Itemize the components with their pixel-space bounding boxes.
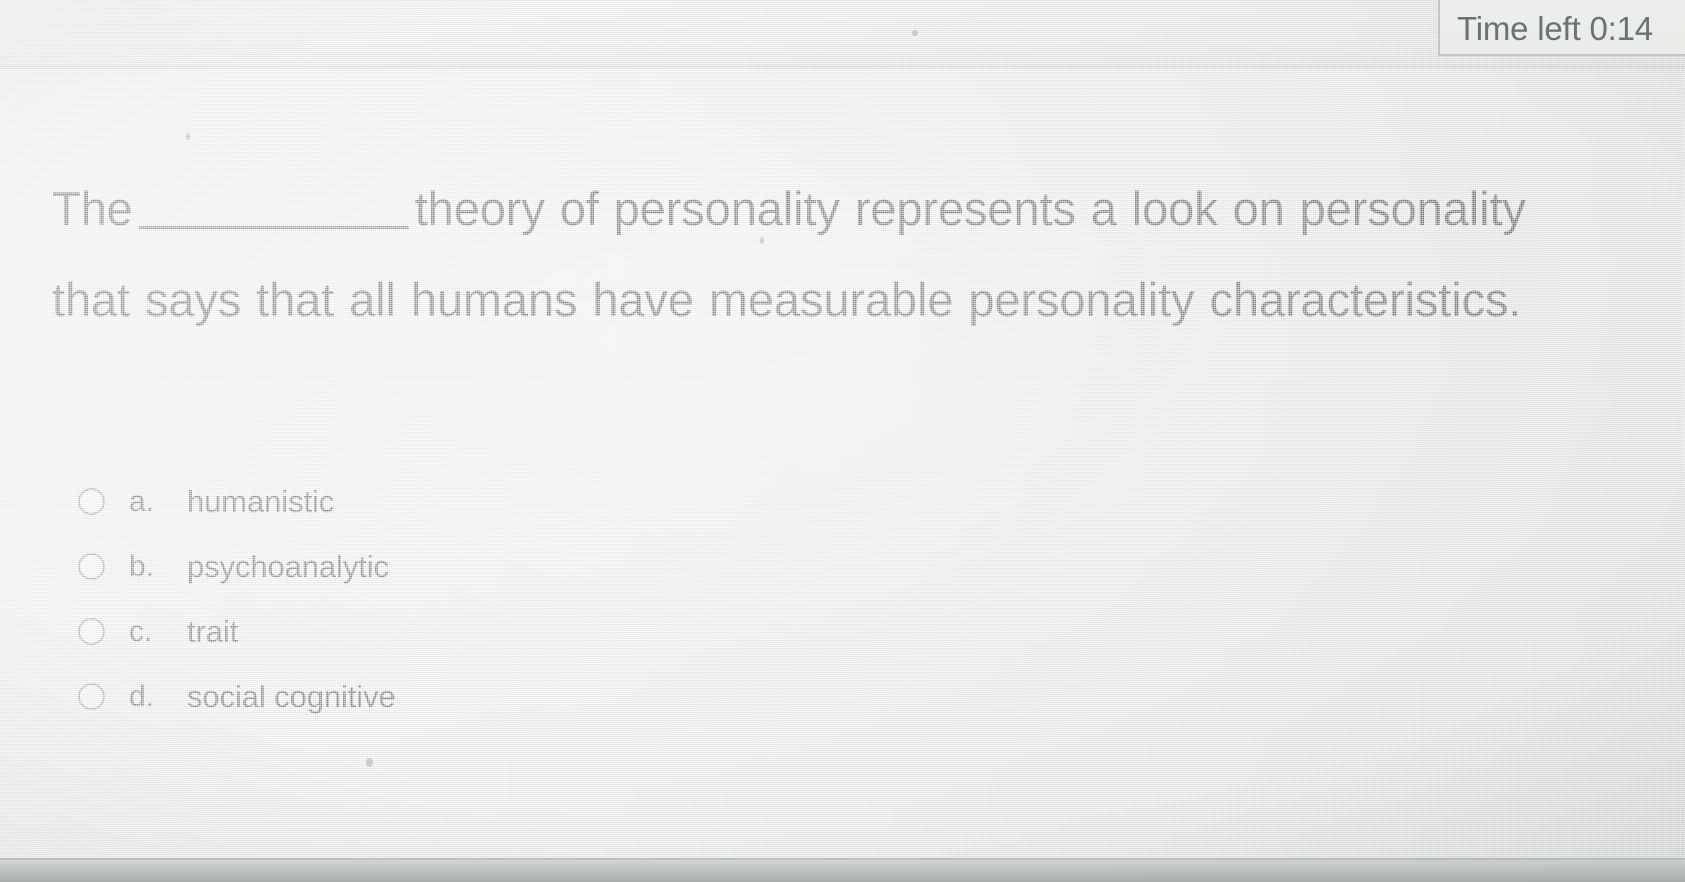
option-label[interactable]: humanistic (187, 484, 334, 520)
option-letter: d. (129, 680, 173, 714)
option-label[interactable]: psychoanalytic (187, 549, 389, 585)
photo-speck (366, 758, 373, 767)
photo-speck (912, 30, 918, 36)
option-label[interactable]: social cognitive (187, 679, 396, 715)
quiz-top-bar (0, 0, 1685, 69)
radio-unchecked-icon[interactable] (78, 488, 105, 515)
option-letter: b. (129, 550, 173, 584)
quiz-timer-box: Time left 0:14 (1438, 0, 1685, 56)
question-content-area: Thetheory of personality represents a lo… (0, 69, 1685, 859)
option-label[interactable]: trait (187, 614, 238, 650)
bottom-edge-band (0, 860, 1685, 882)
answer-option-a[interactable]: a. humanistic (78, 469, 978, 534)
option-letter: a. (129, 485, 173, 519)
answer-option-c[interactable]: c. trait (78, 599, 978, 664)
photo-speck (760, 237, 764, 244)
answer-option-b[interactable]: b. psychoanalytic (78, 534, 978, 599)
answer-option-d[interactable]: d. social cognitive (78, 664, 978, 729)
radio-unchecked-icon[interactable] (78, 683, 105, 710)
quiz-timer-label: Time left 0:14 (1457, 10, 1653, 48)
quiz-screen-photo: Time left 0:14 Thetheory of personality … (0, 0, 1685, 882)
question-stem-prefix: The (52, 182, 133, 235)
answer-options-list: a. humanistic b. psychoanalytic c. trait… (78, 469, 978, 729)
radio-unchecked-icon[interactable] (78, 553, 105, 580)
photo-speck (186, 133, 190, 140)
question-blank-rule (139, 190, 409, 229)
question-stem: Thetheory of personality represents a lo… (52, 163, 1562, 345)
option-letter: c. (129, 615, 173, 649)
radio-unchecked-icon[interactable] (78, 618, 105, 645)
